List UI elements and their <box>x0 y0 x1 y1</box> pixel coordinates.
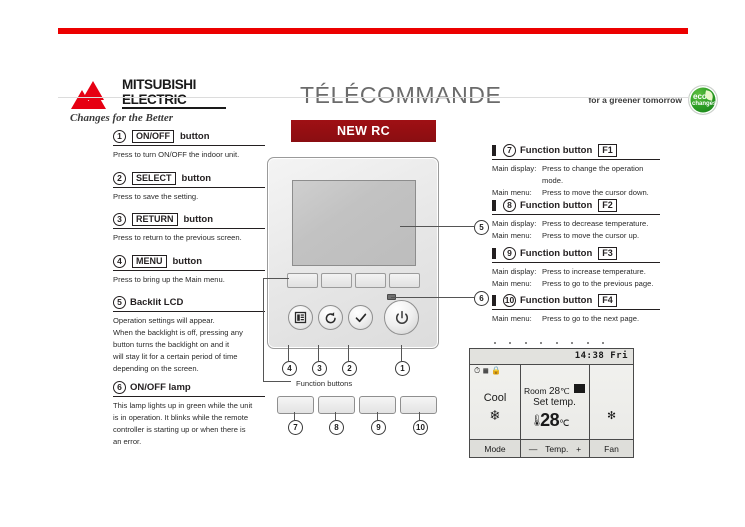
lcd-set-temp-unit: ℃ <box>559 418 569 428</box>
lcd-status-bar: 14:38 Fri <box>470 349 633 365</box>
body-line: button turns the backlight on and it <box>113 339 265 351</box>
select-button[interactable] <box>348 305 373 330</box>
guide-dot <box>540 342 542 344</box>
body-line: controller is starting up or when there … <box>113 424 265 436</box>
lcd-dotted-guide <box>494 342 604 346</box>
annotation-title: button <box>184 214 214 225</box>
lock-icon: 🔒 <box>491 367 501 375</box>
annotation-1-header: 1 ON/OFF button <box>113 130 265 143</box>
callout-marker-9: 9 <box>371 420 386 435</box>
lcd-temperature-column: Room 28℃ Set temp. 🌡 28℃ <box>520 364 590 440</box>
snowflake-icon: ❄ <box>470 408 520 423</box>
device-function-button-f1[interactable] <box>287 273 318 288</box>
annotation-underline <box>492 309 660 310</box>
body-row: Main display: Press to change the operat… <box>492 163 660 175</box>
annotation-6-header: 6 ON/OFF lamp <box>113 381 265 394</box>
new-rc-banner: NEW RC <box>291 120 436 142</box>
callout-number: 10 <box>503 294 516 307</box>
annotation-underline <box>113 145 265 146</box>
annotation-body: Main display: Press to change the operat… <box>492 163 660 199</box>
row-label: Main menu: <box>492 187 542 199</box>
callout-number: 3 <box>113 213 126 226</box>
page-root: MITSUBISHI ELECTRIC Changes for the Bett… <box>0 0 745 527</box>
row-label: Main menu: <box>492 230 542 242</box>
annotation-body: Press to return to the previous screen. <box>113 232 265 244</box>
annotation-9-header: 9 Function button F3 <box>492 247 660 260</box>
lcd-status-icons: ⏱ ▦ 🔒 <box>474 367 501 375</box>
body-line: Press to bring up the Main menu. <box>113 274 265 286</box>
soft-key-plus[interactable]: + <box>576 444 581 454</box>
row-label: Main display: <box>492 163 542 175</box>
callout-marker-2: 2 <box>342 361 357 376</box>
annotation-block-5: 5 Backlit LCD Operation settings will ap… <box>113 296 265 375</box>
callout-marker-7: 7 <box>288 420 303 435</box>
annotation-block-1: 1 ON/OFF button Press to turn ON/OFF the… <box>113 130 265 161</box>
device-function-button-row <box>287 273 420 286</box>
leader-line-7 <box>294 412 295 420</box>
body-line: When the backlight is off, pressing any <box>113 327 265 339</box>
annotation-block-6: 6 ON/OFF lamp This lamp lights up in gre… <box>113 381 265 448</box>
guide-dot <box>571 342 573 344</box>
annotation-5-header: 5 Backlit LCD <box>113 296 265 309</box>
soft-key-mode[interactable]: Mode <box>470 440 521 457</box>
row-value: Press to increase temperature. <box>542 266 660 278</box>
annotation-3-header: 3 RETURN button <box>113 213 265 226</box>
body-line: This lamp lights up in green while the u… <box>113 400 265 412</box>
function-buttons-caption: Function buttons <box>296 379 352 388</box>
eco-badge-line-2: changes <box>692 101 716 107</box>
callout-number: 4 <box>113 255 126 268</box>
detached-button-7[interactable] <box>277 396 314 414</box>
page-header: MITSUBISHI ELECTRIC Changes for the Bett… <box>0 34 745 96</box>
key-label: MENU <box>132 255 167 268</box>
annotation-body: Press to bring up the Main menu. <box>113 274 265 286</box>
fan-icon: ✻ <box>590 408 633 423</box>
body-row: Main menu: Press to go to the next page. <box>492 313 660 325</box>
lcd-main-display: 14:38 Fri ⏱ ▦ 🔒 Cool ❄ Room 28℃ Set temp… <box>469 348 634 458</box>
key-label: RETURN <box>132 213 178 226</box>
callout-number: 7 <box>503 144 516 157</box>
soft-key-fan[interactable]: Fan <box>590 440 633 457</box>
annotation-8-header: 8 Function button F2 <box>492 199 660 212</box>
guide-dot <box>525 342 527 344</box>
annotation-10-header: 10 Function button F4 <box>492 294 660 307</box>
lcd-mode-label: Cool <box>470 392 520 404</box>
callout-number: 2 <box>113 172 126 185</box>
annotation-title: button <box>180 131 210 142</box>
bullet-tick-icon <box>492 248 496 259</box>
device-function-button-f3[interactable] <box>355 273 386 288</box>
body-row: Main display: Press to decrease temperat… <box>492 218 660 230</box>
lcd-clock: 14:38 Fri <box>575 351 628 361</box>
callout-marker-8: 8 <box>329 420 344 435</box>
mitsubishi-diamonds-icon <box>70 80 116 110</box>
callout-number: 8 <box>503 199 516 212</box>
lcd-mode-column: ⏱ ▦ 🔒 Cool ❄ <box>470 364 521 440</box>
leader-line-1 <box>401 345 402 361</box>
annotation-title: Function button <box>520 200 592 211</box>
menu-button[interactable] <box>288 305 313 330</box>
body-line: Operation settings will appear. <box>113 315 265 327</box>
annotation-block-4: 4 MENU button Press to bring up the Main… <box>113 255 265 286</box>
device-function-button-f4[interactable] <box>389 273 420 288</box>
annotation-underline <box>492 159 660 160</box>
soft-key-temp-label: Temp. <box>545 444 568 454</box>
annotation-underline <box>113 228 265 229</box>
onoff-power-button[interactable] <box>384 300 419 335</box>
body-line: will stay lit for a certain period of ti… <box>113 351 265 363</box>
lcd-room-temp-value: 28 <box>549 386 560 397</box>
annotation-block-10: 10 Function button F4 Main menu: Press t… <box>492 294 660 325</box>
lcd-set-temp-value-line: 28℃ <box>520 410 589 431</box>
callout-number: 5 <box>113 296 126 309</box>
brand-line-2: ELECTRIC <box>122 93 226 110</box>
guide-dot <box>509 342 511 344</box>
annotation-4-header: 4 MENU button <box>113 255 265 268</box>
eco-changes-logo: for a greener tomorrow eco changes <box>588 84 717 116</box>
lcd-soft-key-bar: Mode — Temp. + Fan <box>470 439 633 457</box>
key-label: ON/OFF <box>132 130 174 143</box>
row-value: Press to move the cursor down. <box>542 187 660 199</box>
brand-line-1: MITSUBISHI <box>122 78 226 93</box>
body-line: is in operation. It blinks while the rem… <box>113 412 265 424</box>
callout-marker-6: 6 <box>474 291 489 306</box>
guide-dot <box>556 342 558 344</box>
lcd-room-label: Room <box>524 386 547 396</box>
leader-line-4 <box>288 345 289 361</box>
body-line: Press to turn ON/OFF the indoor unit. <box>113 149 265 161</box>
header-divider <box>58 97 688 98</box>
bullet-tick-icon <box>492 295 496 306</box>
annotation-block-3: 3 RETURN button Press to return to the p… <box>113 213 265 244</box>
return-button[interactable] <box>318 305 343 330</box>
lcd-set-temp-label: Set temp. <box>520 397 589 408</box>
key-label: F4 <box>598 294 617 307</box>
leader-line-3 <box>318 345 319 361</box>
annotation-title: Backlit LCD <box>130 297 183 308</box>
lcd-set-temp-value: 28 <box>540 410 559 430</box>
annotation-block-2: 2 SELECT button Press to save the settin… <box>113 172 265 203</box>
leader-bracket-vertical <box>263 278 264 381</box>
row-label: Main menu: <box>492 278 542 290</box>
row-value: Press to move the cursor up. <box>542 230 660 242</box>
leader-bracket-bottom <box>263 381 291 382</box>
body-line: Press to return to the previous screen. <box>113 232 265 244</box>
annotation-body: This lamp lights up in green while the u… <box>113 400 265 448</box>
annotation-underline <box>113 187 265 188</box>
bullet-tick-icon <box>492 200 496 211</box>
annotation-title: button <box>182 173 212 184</box>
leader-line-9 <box>377 412 378 420</box>
lcd-room-temp-line: Room 28℃ <box>520 384 589 397</box>
soft-key-temp-group: — Temp. + <box>521 440 590 457</box>
return-arrow-icon <box>324 311 338 325</box>
row-value: Press to decrease temperature. <box>542 218 660 230</box>
annotation-block-9: 9 Function button F3 Main display: Press… <box>492 247 660 290</box>
brand-wordmark: MITSUBISHI ELECTRIC <box>122 78 226 109</box>
device-round-button-row <box>286 302 422 336</box>
power-icon <box>394 310 410 326</box>
annotation-title: button <box>173 256 203 267</box>
page-title: TÉLÉCOMMANDE <box>300 82 560 109</box>
row-label: Main display: <box>492 218 542 230</box>
callout-number: 9 <box>503 247 516 260</box>
key-label: F2 <box>598 199 617 212</box>
row-value: Press to go to the next page. <box>542 313 660 325</box>
annotation-block-8: 8 Function button F2 Main display: Press… <box>492 199 660 242</box>
schedule-icon: ▦ <box>483 367 488 375</box>
body-line: Press to save the setting. <box>113 191 265 203</box>
annotation-title: Function button <box>520 295 592 306</box>
annotation-body: Main menu: Press to go to the next page. <box>492 313 660 325</box>
annotation-underline <box>492 262 660 263</box>
callout-marker-4: 4 <box>282 361 297 376</box>
body-line: depending on the screen. <box>113 363 265 375</box>
clock-icon: ⏱ <box>474 367 480 375</box>
callout-marker-5: 5 <box>474 220 489 235</box>
brand-tagline: Changes for the Better <box>70 112 173 124</box>
body-row-indented: mode. <box>492 175 660 187</box>
body-row: Main menu: Press to move the cursor down… <box>492 187 660 199</box>
annotation-underline <box>113 270 265 271</box>
guide-dot <box>494 342 496 344</box>
device-function-button-f2[interactable] <box>321 273 352 288</box>
detached-button-8[interactable] <box>318 396 355 414</box>
device-lcd-screen <box>292 180 416 266</box>
guide-dot <box>602 342 604 344</box>
annotation-underline <box>113 396 265 397</box>
annotation-block-7: 7 Function button F1 Main display: Press… <box>492 144 660 199</box>
soft-key-minus[interactable]: — <box>529 444 538 454</box>
annotation-title: Function button <box>520 145 592 156</box>
guide-dot <box>587 342 589 344</box>
body-row: Main menu: Press to move the cursor up. <box>492 230 660 242</box>
annotation-7-header: 7 Function button F1 <box>492 144 660 157</box>
leader-line-6 <box>391 297 474 298</box>
annotation-body: Main display: Press to increase temperat… <box>492 266 660 290</box>
key-label: SELECT <box>132 172 176 185</box>
annotation-2-header: 2 SELECT button <box>113 172 265 185</box>
annotation-body: Press to save the setting. <box>113 191 265 203</box>
leader-line-10 <box>419 412 420 420</box>
body-row: Main display: Press to increase temperat… <box>492 266 660 278</box>
annotation-body: Main display: Press to decrease temperat… <box>492 218 660 242</box>
lcd-fan-column: ✻ <box>590 364 633 440</box>
callout-marker-3: 3 <box>312 361 327 376</box>
callout-number: 6 <box>113 381 126 394</box>
mitsubishi-electric-logo: MITSUBISHI ELECTRIC Changes for the Bett… <box>70 78 260 122</box>
lcd-room-temp-unit: ℃ <box>560 386 570 396</box>
eco-badge-icon: eco changes <box>689 86 717 114</box>
detached-function-buttons <box>277 396 437 412</box>
annotation-title: Function button <box>520 248 592 259</box>
callout-marker-1: 1 <box>395 361 410 376</box>
display-box-icon <box>574 384 585 393</box>
annotation-title: ON/OFF lamp <box>130 382 191 393</box>
bullet-tick-icon <box>492 145 496 156</box>
menu-icon <box>294 311 307 324</box>
key-label: F1 <box>598 144 617 157</box>
leader-line-5 <box>400 226 474 227</box>
annotation-underline <box>492 214 660 215</box>
callout-number: 1 <box>113 130 126 143</box>
leader-line-8 <box>335 412 336 420</box>
annotation-underline <box>113 311 265 312</box>
check-icon <box>354 311 368 325</box>
lcd-content: 14:38 Fri ⏱ ▦ 🔒 Cool ❄ Room 28℃ Set temp… <box>470 349 633 457</box>
row-value: Press to change the operation <box>542 163 660 175</box>
leader-line-2 <box>348 345 349 361</box>
annotation-body: Operation settings will appear. When the… <box>113 315 265 375</box>
body-line: an error. <box>113 436 265 448</box>
callout-marker-10: 10 <box>413 420 428 435</box>
annotation-body: Press to turn ON/OFF the indoor unit. <box>113 149 265 161</box>
row-label: Main display: <box>492 266 542 278</box>
row-value: Press to go to the previous page. <box>542 278 660 290</box>
key-label: F3 <box>598 247 617 260</box>
body-row: Main menu: Press to go to the previous p… <box>492 278 660 290</box>
row-label: Main menu: <box>492 313 542 325</box>
leader-bracket-top <box>263 278 289 279</box>
remote-controller-illustration <box>267 157 439 349</box>
